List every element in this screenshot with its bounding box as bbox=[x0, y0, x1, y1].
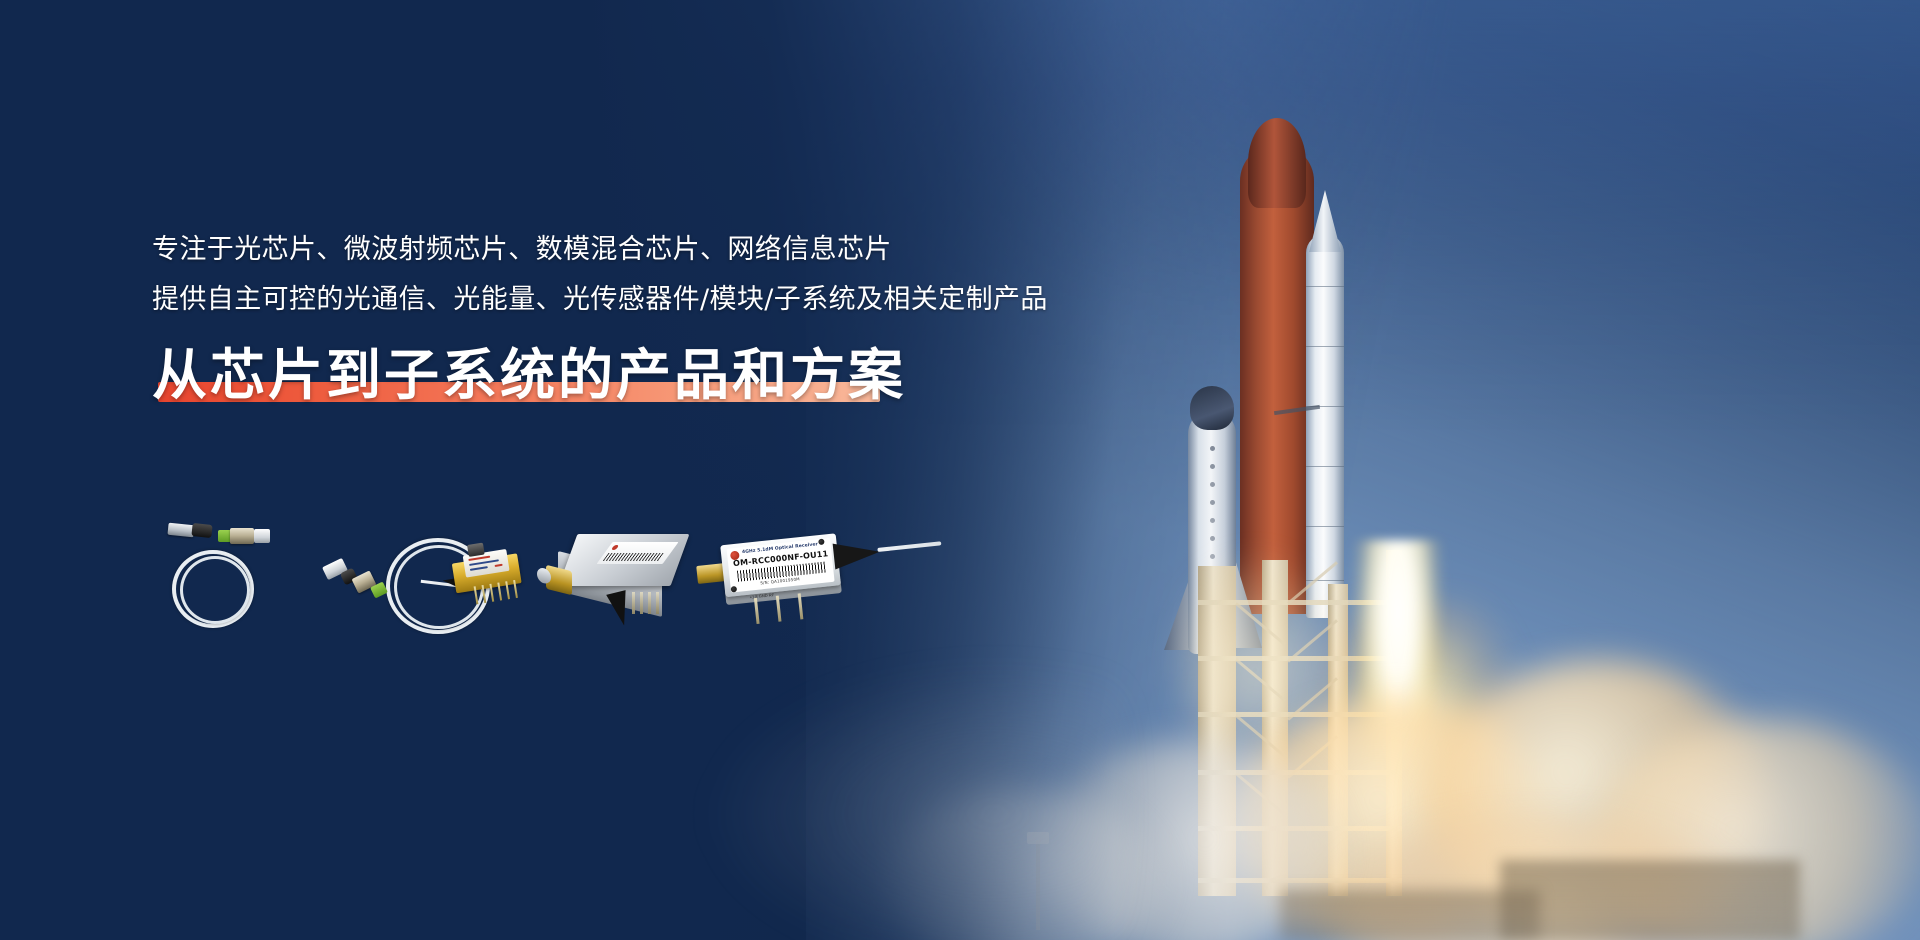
product-butterfly-laser bbox=[446, 538, 533, 611]
product-showcase: 4GHz 5.1dM Optical Receiver OM-RCC000NF-… bbox=[150, 520, 1030, 650]
headline-block: 从芯片到子系统的产品和方案 bbox=[152, 343, 906, 408]
product-optical-receiver: 4GHz 5.1dM Optical Receiver OM-RCC000NF-… bbox=[708, 522, 916, 632]
product-fiber-pigtail-1 bbox=[150, 520, 310, 630]
subtitle-line-2: 提供自主可控的光通信、光能量、光传感器件/模块/子系统及相关定制产品 bbox=[152, 278, 1152, 322]
product-rf-module bbox=[558, 534, 688, 618]
hero-banner: 专注于光芯片、微波射频芯片、数模混合芯片、网络信息芯片 提供自主可控的光通信、光… bbox=[0, 0, 1920, 940]
hero-copy: 专注于光芯片、微波射频芯片、数模混合芯片、网络信息芯片 提供自主可控的光通信、光… bbox=[152, 228, 1152, 408]
subtitle-line-1: 专注于光芯片、微波射频芯片、数模混合芯片、网络信息芯片 bbox=[152, 228, 1152, 272]
sma-connector-icon bbox=[546, 565, 572, 595]
page-title: 从芯片到子系统的产品和方案 bbox=[152, 343, 906, 408]
haze-overlay bbox=[700, 660, 1120, 940]
